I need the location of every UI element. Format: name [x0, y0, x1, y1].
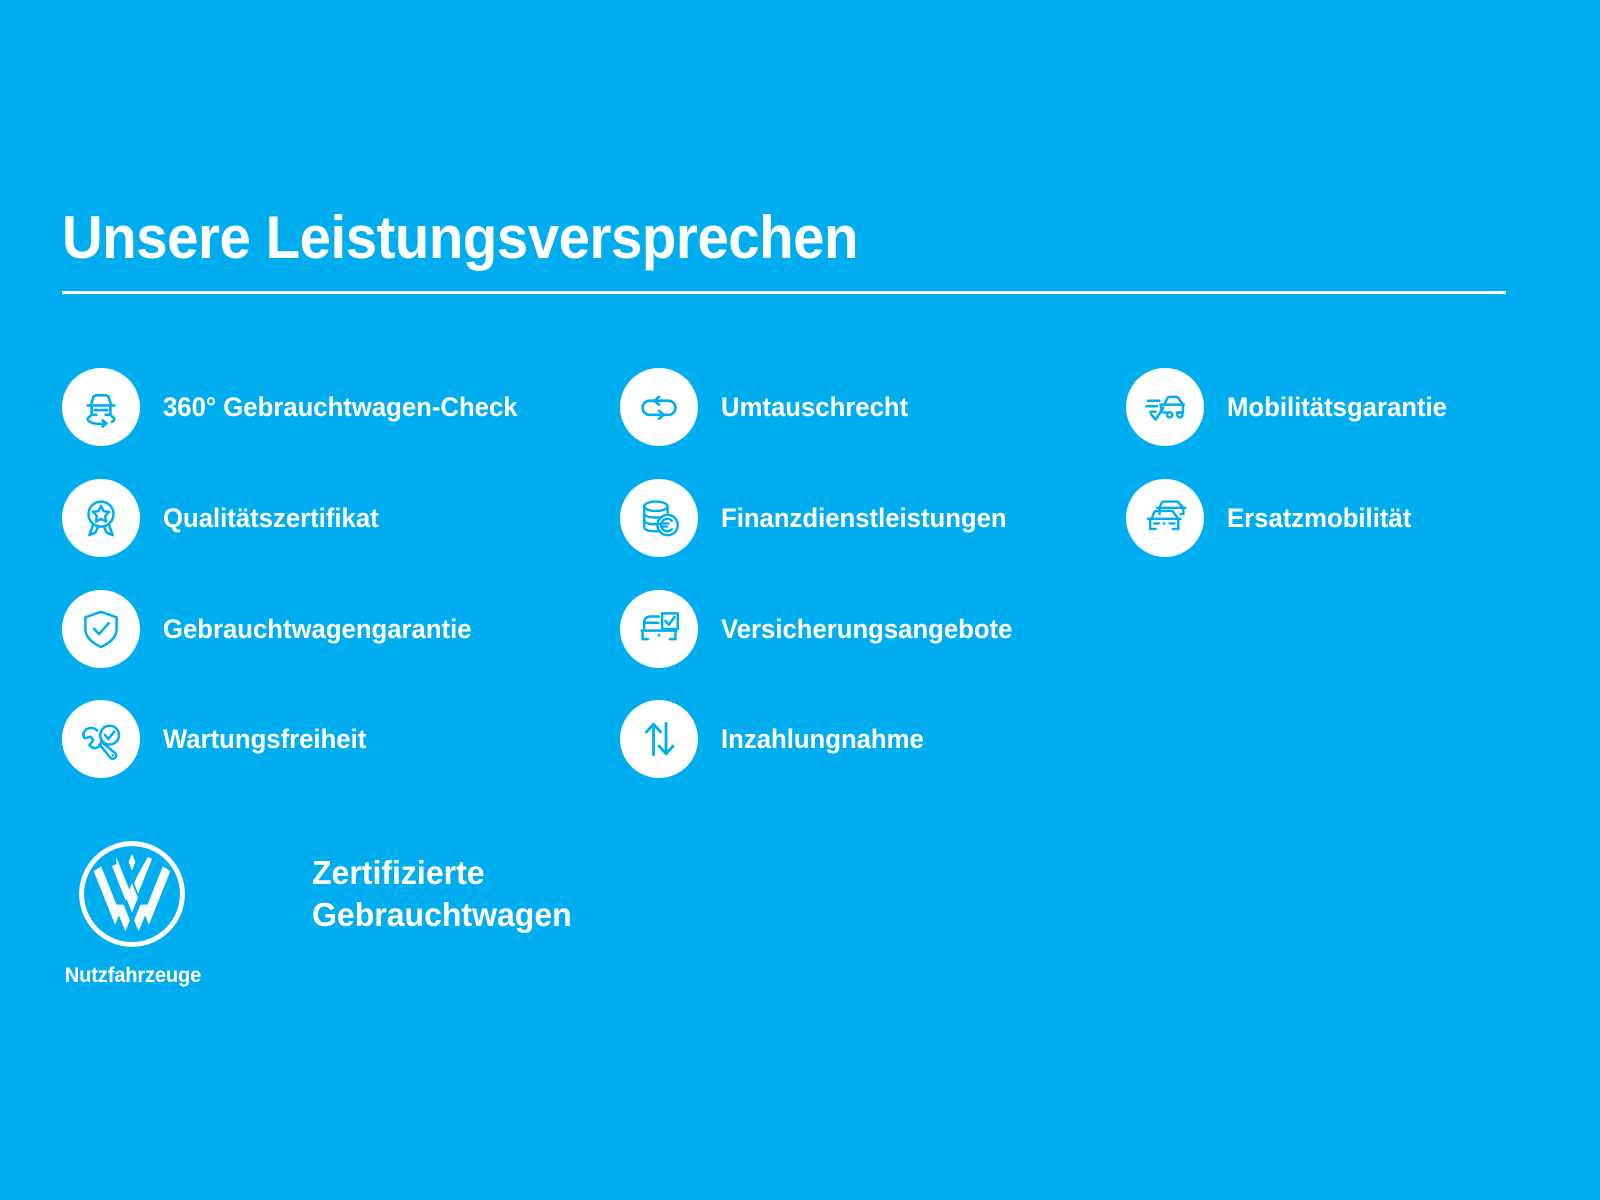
feature-label: 360° Gebrauchtwagen-Check — [163, 394, 518, 421]
wrench-check-icon — [62, 700, 140, 778]
feature-item-umtauschrecht[interactable]: Umtauschrecht — [620, 368, 914, 446]
feature-label: Inzahlungnahme — [721, 726, 924, 753]
feature-item-mobilitaetsgarantie[interactable]: Mobilitätsgarantie — [1126, 368, 1454, 446]
brand-headline-line-1: Zertifizierte — [312, 852, 572, 894]
up-down-arrows-icon — [620, 700, 698, 778]
two-cars-icon — [1126, 479, 1204, 557]
feature-item-inzahlungnahme[interactable]: Inzahlungnahme — [620, 700, 930, 778]
feature-item-gebrauchtwagengarantie[interactable]: Gebrauchtwagengarantie — [62, 590, 481, 668]
feature-item-versicherungsangebote[interactable]: Versicherungsangebote — [620, 590, 1021, 668]
feature-item-wartungsfreiheit[interactable]: Wartungsfreiheit — [62, 700, 373, 778]
feature-label: Wartungsfreiheit — [163, 726, 366, 753]
brand-headline: Zertifizierte Gebrauchtwagen — [312, 852, 572, 935]
volkswagen-logo — [76, 838, 188, 950]
car-checkbox-icon — [620, 590, 698, 668]
exchange-arrows-icon — [620, 368, 698, 446]
page-title: Unsere Leistungsversprechen — [62, 206, 858, 269]
feature-label: Gebrauchtwagengarantie — [163, 616, 472, 643]
shield-check-icon — [62, 590, 140, 668]
award-rosette-icon — [62, 479, 140, 557]
car-360-check-icon — [62, 368, 140, 446]
feature-item-qualitaetszertifikat[interactable]: Qualitätszertifikat — [62, 479, 385, 557]
promo-slide: Unsere Leistungsversprechen — [0, 0, 1600, 1200]
feature-item-finanzdienstleistungen[interactable]: Finanzdienstleistungen — [620, 479, 1015, 557]
title-divider — [62, 291, 1506, 294]
feature-item-ersatzmobilitaet[interactable]: Ersatzmobilität — [1126, 479, 1417, 557]
feature-label: Umtauschrecht — [721, 394, 908, 421]
feature-label: Mobilitätsgarantie — [1227, 394, 1447, 421]
feature-label: Finanzdienstleistungen — [721, 505, 1007, 532]
coins-euro-icon — [620, 479, 698, 557]
feature-item-360-check[interactable]: 360° Gebrauchtwagen-Check — [62, 368, 529, 446]
feature-label: Qualitätszertifikat — [163, 505, 379, 532]
brand-mark: Nutzfahrzeuge — [62, 838, 202, 988]
brand-headline-line-2: Gebrauchtwagen — [312, 894, 572, 936]
brand-block: Nutzfahrzeuge Zertifizierte Gebrauchtwag… — [62, 838, 580, 988]
brand-sub-label: Nutzfahrzeuge — [65, 964, 199, 988]
feature-label: Versicherungsangebote — [721, 616, 1012, 643]
moving-car-check-icon — [1126, 368, 1204, 446]
feature-label: Ersatzmobilität — [1227, 505, 1411, 532]
